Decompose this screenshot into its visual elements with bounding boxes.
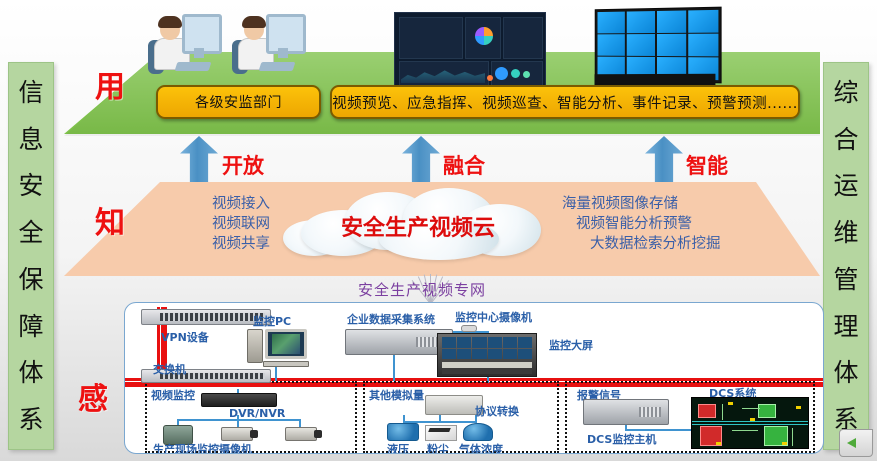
pillar-operations-management: 综 合 运 维 管 理 体 系: [823, 62, 869, 450]
keyboard-icon: [175, 62, 212, 71]
label-gas: 气体浓度: [459, 441, 503, 454]
label-other-analog: 其他模拟量: [369, 387, 424, 403]
pillar-right-char-1: 合: [833, 127, 858, 152]
label-dvr-nvr: DVR/NVR: [229, 407, 285, 420]
arrow-up-icon-intelligent: [645, 136, 683, 182]
operator-illustration-1: [152, 14, 214, 84]
video-cloud-shape: 安全生产视频云: [283, 188, 553, 258]
keyboard-icon: [259, 62, 296, 71]
cloud-left-item-1: 视频联网: [150, 214, 270, 234]
pillar-right-char-3: 维: [833, 220, 858, 245]
architecture-diagram: 信 息 安 全 保 障 体 系 综 合 运 维 管 理 体 系 用 知 感: [0, 0, 877, 461]
video-wall-image: [595, 7, 722, 84]
zone-label-sense: 感: [78, 374, 108, 418]
private-network-label: 安全生产视频专网: [358, 279, 486, 300]
label-video-wall: 监控大屏: [549, 337, 593, 353]
link-data-collector: [393, 355, 395, 381]
person-hair: [158, 16, 182, 28]
pillar-right-char-4: 管: [833, 267, 858, 292]
hydraulic-sensor-icon: [387, 423, 419, 441]
pc-tower-icon: [247, 329, 263, 363]
pillar-left-char-3: 全: [18, 220, 43, 245]
label-enterprise-collect: 企业数据采集系统: [347, 311, 435, 327]
label-center-camera: 监控中心摄像机: [455, 309, 532, 325]
pillar-left-char-4: 保: [18, 267, 43, 292]
bullet-camera-icon-1: [221, 427, 253, 441]
zone-label-know: 知: [95, 198, 125, 242]
application-functions-box[interactable]: 视频预览、应急指挥、视频巡查、智能分析、事件记录、预警预测......: [330, 85, 800, 119]
control-room-image: [437, 333, 537, 377]
arrow-label-fusion: 融合: [443, 150, 485, 180]
corner-green-arrow-icon[interactable]: [839, 429, 873, 457]
label-hydraulic: 液压: [387, 441, 409, 454]
pillar-left-char-2: 安: [18, 173, 43, 198]
bullet-camera-icon-2: [285, 427, 317, 441]
cloud-right-item-2: 大数据检索分析挖掘: [562, 234, 772, 254]
label-dcs-host: DCS监控主机: [587, 431, 656, 447]
operator-illustration-2: [236, 14, 298, 84]
pillar-right-char-6: 体: [833, 360, 858, 385]
pillar-left-char-7: 系: [18, 407, 43, 432]
label-vpn: VPN设备: [161, 329, 209, 345]
dust-sensor-icon: [425, 425, 457, 441]
analytics-dashboard-image: [394, 12, 546, 88]
dcs-host-icon: [583, 399, 669, 425]
cloud-left-item-0: 视频接入: [150, 194, 270, 214]
label-video-surveillance: 视频监控: [151, 387, 195, 403]
vpn-device-icon: [141, 309, 271, 325]
label-site-cameras: 生产现场监控摄像机: [153, 441, 252, 454]
pillar-left-char-0: 信: [18, 80, 43, 105]
cloud-left-item-2: 视频共享: [150, 234, 270, 254]
person-hair: [242, 16, 266, 28]
pillar-right-char-2: 运: [833, 173, 858, 198]
label-dust: 粉尘: [427, 441, 449, 454]
zone-label-use: 用: [95, 62, 125, 106]
monitor-stand: [278, 48, 288, 58]
arrow-label-intelligent: 智能: [686, 150, 728, 180]
cloud-title: 安全生产视频云: [283, 210, 553, 242]
pillar-left-char-5: 障: [18, 314, 43, 339]
pillar-information-security: 信 息 安 全 保 障 体 系: [8, 62, 54, 450]
arrow-label-open: 开放: [222, 150, 264, 180]
pillar-left-char-6: 体: [18, 360, 43, 385]
dvr-nvr-icon: [201, 393, 277, 407]
label-monitor-pc: 监控PC: [253, 313, 291, 329]
pillar-right-char-0: 综: [833, 80, 858, 105]
pc-keyboard-icon: [263, 361, 309, 367]
infrastructure-panel: VPN设备 交换机 监控PC 企业数据采集系统 监控中心摄像机 监控大屏 视频监…: [124, 302, 824, 454]
monitor-stand: [194, 48, 204, 58]
arrow-up-icon-open: [180, 136, 218, 182]
gas-sensor-icon: [463, 423, 493, 441]
safety-supervision-departments-box[interactable]: 各级安监部门: [156, 85, 321, 119]
cloud-right-item-0: 海量视频图像存储: [562, 194, 772, 214]
arrow-up-icon-fusion: [402, 136, 440, 182]
cloud-right-item-1: 视频智能分析预警: [562, 214, 772, 234]
label-switch: 交换机: [153, 361, 186, 377]
label-protocol-convert: 协议转换: [475, 403, 519, 419]
pillar-right-char-5: 理: [833, 314, 858, 339]
dome-camera-icon: [461, 325, 477, 332]
cloud-right-capabilities: 海量视频图像存储 视频智能分析预警 大数据检索分析挖掘: [562, 194, 772, 254]
pc-monitor-icon: [265, 329, 307, 359]
dcs-system-image: [691, 397, 809, 449]
pillar-left-char-1: 息: [18, 127, 43, 152]
cloud-left-capabilities: 视频接入 视频联网 视频共享: [150, 194, 270, 254]
